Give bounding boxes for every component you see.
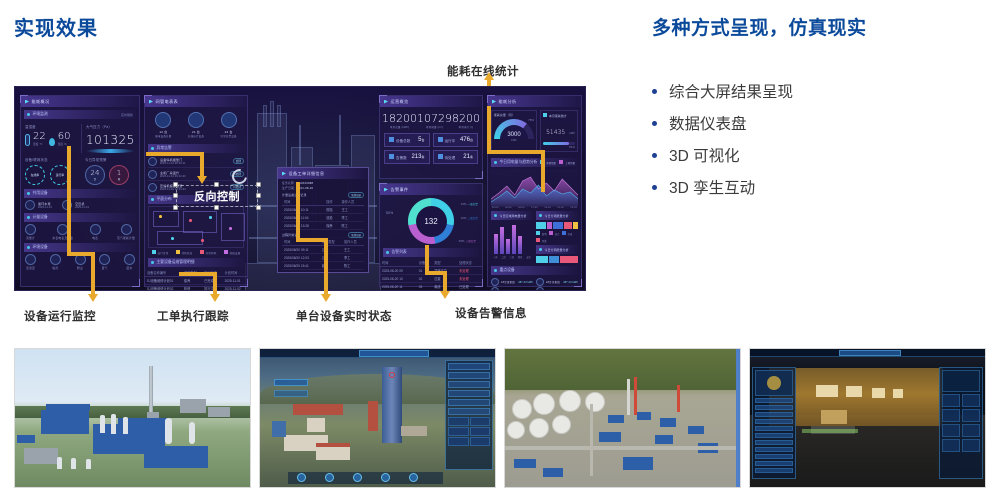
device-row[interactable]: 4#循环水泵 487.23 kWh	[536, 287, 578, 291]
humidity-drop-icon	[49, 138, 55, 146]
region-bar-chart[interactable]	[491, 222, 533, 254]
device-icon	[491, 287, 499, 291]
env-item[interactable]: 废水	[124, 254, 135, 270]
subsection-header: 今日分项能量分析	[536, 245, 578, 254]
resize-handle-e[interactable]	[256, 193, 261, 198]
energy-heat-bar-2[interactable]	[536, 256, 578, 263]
triangle-icon	[384, 100, 388, 104]
panel-title: 运营概览	[380, 96, 482, 107]
subsection-header: 环境监测 实时刷新	[24, 110, 136, 119]
feature-list: 综合大屏结果呈现 数据仪表盘 3D 可视化 3D 孪生互动	[652, 78, 982, 206]
subsection-header: 今日区域用电量分析	[491, 211, 533, 220]
thumb2-side-panel[interactable]	[445, 360, 493, 470]
table-row: 2025/08/20 10:11校验王工	[282, 206, 364, 214]
list-item-label: 3D 可视化	[669, 144, 740, 166]
table-row: 2025/08/20 11:04巡检李工	[282, 214, 364, 222]
temperature-value: 22	[33, 132, 46, 142]
device-icon	[491, 278, 499, 286]
device-row[interactable]: 1#空压机组 487.23 kWh	[491, 278, 533, 286]
panel-title: 网管电表表	[145, 96, 247, 107]
device-online-icon	[188, 112, 204, 128]
device-icon	[536, 278, 544, 286]
subsection-header: 环境设备	[24, 243, 136, 252]
dot-icon	[386, 251, 389, 254]
env-item[interactable]: 温湿度	[25, 254, 36, 270]
kpi-item: 18200 本月总量 (kWh)	[382, 112, 417, 129]
thumbnail-3d-chemical-plant[interactable]	[14, 348, 251, 488]
panel-title: 能耗概况	[21, 96, 139, 107]
page-title-left: 实现效果	[14, 12, 98, 41]
thumb2-topbar	[260, 349, 495, 358]
table-row: 2025-08-20 1304断电已处理	[380, 291, 482, 292]
dot-icon	[494, 269, 497, 272]
thumbnail-3d-indoor-twin-roaming[interactable]	[749, 348, 986, 488]
subsection-header: 主要设备运维管理明细	[148, 258, 244, 267]
thumbnail-3d-refinery-aerial[interactable]	[504, 348, 741, 488]
list-item-label: 数据仪表盘	[669, 112, 747, 134]
resize-handle-nw[interactable]	[173, 182, 178, 187]
kpi-item: 10729 本月耗量 (m³)	[417, 112, 452, 129]
resize-handle-sw[interactable]	[173, 205, 178, 210]
alarm-tag[interactable]: 处理	[233, 158, 244, 164]
subsection-header: 共用设备	[24, 189, 136, 198]
metric-chip[interactable]: 待处理 21条	[433, 150, 479, 164]
reverse-control-textbox[interactable]: 反向控制	[176, 185, 258, 207]
dot-icon	[151, 198, 154, 201]
kpi-item: 8200 本月蒸汽 (t)	[452, 112, 480, 129]
metric-chip[interactable]: 设备总数 5台	[384, 133, 430, 147]
triangle-icon	[492, 100, 496, 104]
resize-handle-se[interactable]	[256, 205, 261, 210]
stat-card[interactable]: 21 台 在线运行设备	[188, 112, 204, 138]
device-row[interactable]: 3#锅炉设备 487.23 kWh	[491, 287, 533, 291]
gauge-card[interactable]: 能耗总量（月） 3000 75% kWh	[491, 110, 537, 152]
dot-icon	[27, 246, 30, 249]
triangle-icon	[384, 188, 388, 192]
dot-icon	[27, 113, 30, 116]
thumb2-bottom-dock[interactable]	[288, 472, 443, 484]
metric-chip[interactable]: 告警数 213条	[384, 150, 430, 164]
metering-item[interactable]: 蒸汽能耗计量	[117, 224, 135, 240]
monthly-stat-card[interactable]: 本月能耗统计 51435 kWh 81%	[540, 110, 578, 152]
legend-item: 运行正常	[152, 250, 169, 255]
list-item: 综合大屏结果呈现	[652, 78, 982, 104]
error-record-table[interactable]: 时间故障类型操作人员 2025/08/20 09:11过热王工 2025/08/…	[282, 238, 364, 270]
subsection-header: 计量设备	[24, 213, 136, 222]
work-order-detail-modal[interactable]: 设备工单详细信息 任务名称：ZS0010988 生产日期：2022-08-20 …	[277, 167, 369, 273]
energy-gauge: 3000	[494, 119, 534, 139]
subsection-header: 今日用电量与趋势分析 本期用量 上期用量	[491, 158, 578, 167]
modal-title: 设备工单详细信息	[278, 168, 368, 179]
env-item[interactable]: 废气	[99, 254, 110, 270]
wastewater-icon	[124, 254, 135, 265]
annotation-label-3: 单台设备实时状态	[296, 308, 392, 324]
thumb4-left-panel[interactable]	[752, 367, 796, 479]
subsection-header: 重点设备	[491, 266, 578, 275]
table-row: 2025-08-20 1002过载未处理	[380, 275, 482, 283]
annotation-label-1: 设备运行监控	[24, 308, 96, 324]
device-icon	[389, 137, 394, 142]
stat-card[interactable]: 12 台 配电设备总量	[155, 112, 171, 138]
bullet-icon	[652, 89, 657, 94]
dot-icon	[539, 248, 542, 251]
panel-title: 告警事件	[380, 184, 482, 195]
triangle-icon	[149, 100, 153, 104]
warning-count-2: 1 项	[109, 165, 129, 185]
annotation-label-2: 工单执行跟踪	[157, 308, 229, 324]
steam-meter-icon	[121, 224, 132, 235]
pending-icon	[438, 154, 443, 159]
thumb2-tooltip2	[274, 390, 308, 397]
legend-item: 离线设备	[224, 250, 241, 255]
running-icon	[438, 137, 443, 142]
dot-icon	[27, 192, 30, 195]
alarm-row[interactable]: 设备停机报警门 2025-11-01 08:20:11 处理	[148, 155, 244, 168]
device-item[interactable]: 循环水泵 2025-11-01	[25, 200, 52, 210]
process-record-table[interactable]: 时间操作操作人员 2025/08/20 10:11校验王工 2025/08/20…	[282, 198, 364, 230]
subsection-header: 今日分项能量分析	[536, 211, 578, 220]
dot-icon	[494, 214, 497, 217]
electric-meter-icon	[90, 224, 101, 235]
panel-title: 能耗分析	[488, 96, 581, 107]
energy-trend-chart[interactable]	[491, 169, 578, 207]
table-row: 2025/08/20 12:03过载李工	[282, 254, 364, 262]
stat-card[interactable]: 23 台 异常告警设备	[221, 112, 237, 138]
alarm-row[interactable]: 主机厂房温升 2025-11-01 09:12:40 待处理	[148, 168, 244, 181]
dot-icon	[494, 161, 497, 164]
device-icon	[536, 287, 544, 291]
panel-operation-overview[interactable]: 运营概览 18200 本月总量 (kWh) 10729 本月耗量 (m³) 82…	[379, 95, 483, 179]
panel-energy-analysis[interactable]: 能耗分析 能耗总量（月） 3000 75% kWh 本月能耗统计 51435 k…	[487, 95, 582, 287]
dashboard-screenshot[interactable]: 能耗概况 环境监测 实时刷新 温湿度 22 温度 ℃ 60 湿度	[14, 86, 586, 291]
thumb2-tooltip	[274, 379, 308, 386]
env-item[interactable]: 噪音	[50, 254, 61, 270]
resize-handle-s[interactable]	[214, 205, 219, 210]
thumb4-topbar	[750, 349, 985, 357]
alarm-list-table[interactable]: 时间设备类型处理状态 2025-08-20 0901温度过高未处理 2025-0…	[380, 259, 482, 291]
view-all-records-button[interactable]: 全部记录	[348, 192, 364, 198]
panel-energy-overview[interactable]: 能耗概况 环境监测 实时刷新 温湿度 22 温度 ℃ 60 湿度	[20, 95, 140, 287]
alarm-count-icon	[389, 154, 394, 159]
dot-icon	[151, 261, 154, 264]
view-all-errors-button[interactable]: 全部记录	[348, 232, 364, 238]
pressure-value: 101325	[86, 133, 135, 147]
metric-label: 温湿度	[25, 124, 81, 129]
env-item[interactable]: 粉尘	[75, 254, 86, 270]
table-row: 2025/08/20 09:11过热王工	[282, 246, 364, 254]
resize-handle-ne[interactable]	[256, 182, 261, 187]
device-total-icon	[155, 112, 171, 128]
page-title-right: 多种方式呈现，仿真现实	[652, 13, 867, 40]
list-item: 3D 可视化	[652, 142, 982, 168]
table-row: SJ设备维修计划01保养已完成2025-11-01	[145, 277, 247, 285]
bullet-icon	[652, 121, 657, 126]
dot-icon	[151, 147, 154, 150]
alarm-donut-chart: 132	[408, 198, 454, 244]
resize-handle-w[interactable]	[173, 193, 178, 198]
warning-count-1: 24 次	[85, 165, 105, 185]
list-item: 数据仪表盘	[652, 110, 982, 136]
table-row: 2025/08/20 15:41超压陈工	[282, 262, 364, 270]
thumbnail-gallery	[14, 348, 986, 488]
device-alarm-icon	[221, 112, 237, 128]
alarm-icon	[148, 183, 157, 192]
legend-item: 异常停机	[200, 250, 217, 255]
legend-item: 待机状态	[176, 250, 193, 255]
triangle-icon	[282, 172, 286, 176]
triangle-icon	[25, 100, 29, 104]
flow-meter-icon	[25, 224, 36, 235]
list-item: 3D 孪生互动	[652, 174, 982, 200]
metric-chip[interactable]: 运行中 476台	[433, 133, 479, 147]
pump-icon	[25, 200, 35, 210]
alarm-icon	[148, 170, 157, 179]
list-item-label: 综合大屏结果呈现	[669, 80, 793, 102]
dot-icon	[539, 214, 542, 217]
humidity-value: 60	[58, 132, 71, 142]
bullet-icon	[652, 153, 657, 158]
noise-icon	[50, 254, 61, 265]
thumbnail-3d-cement-digital-twin[interactable]	[259, 348, 496, 488]
reverse-control-label: 反向控制	[176, 185, 258, 207]
thumb4-right-panel[interactable]	[939, 367, 983, 479]
energy-heat-bar-1[interactable]	[536, 222, 578, 229]
resize-handle-n[interactable]	[214, 182, 219, 187]
subsection-header: 告警列表	[383, 248, 479, 257]
dot-icon	[27, 216, 30, 219]
online-rate-ring: 在线率	[25, 165, 45, 185]
device-row[interactable]: 2#冷冻机组 487.23 kWh	[536, 278, 578, 286]
annotation-label-top: 能耗在线统计	[447, 63, 519, 79]
thermometer-icon	[25, 134, 30, 146]
list-item-label: 3D 孪生互动	[669, 176, 755, 198]
metering-item[interactable]: 电表	[90, 224, 101, 240]
table-row: SJ设备维修计划02检修执行中2025-11-02	[145, 285, 247, 292]
metering-item[interactable]: 流量计	[25, 224, 36, 240]
annotation-label-4: 设备告警信息	[455, 305, 527, 321]
bullet-icon	[652, 185, 657, 190]
table-row: 2025/08/20 13:28保养陈工	[282, 222, 364, 230]
floor-plan-map[interactable]	[148, 206, 244, 248]
temp-humidity-icon	[25, 254, 36, 265]
table-row: 2025-08-20 1103离线已处理	[380, 283, 482, 291]
alarm-icon	[148, 157, 157, 166]
exhaust-icon	[99, 254, 110, 265]
